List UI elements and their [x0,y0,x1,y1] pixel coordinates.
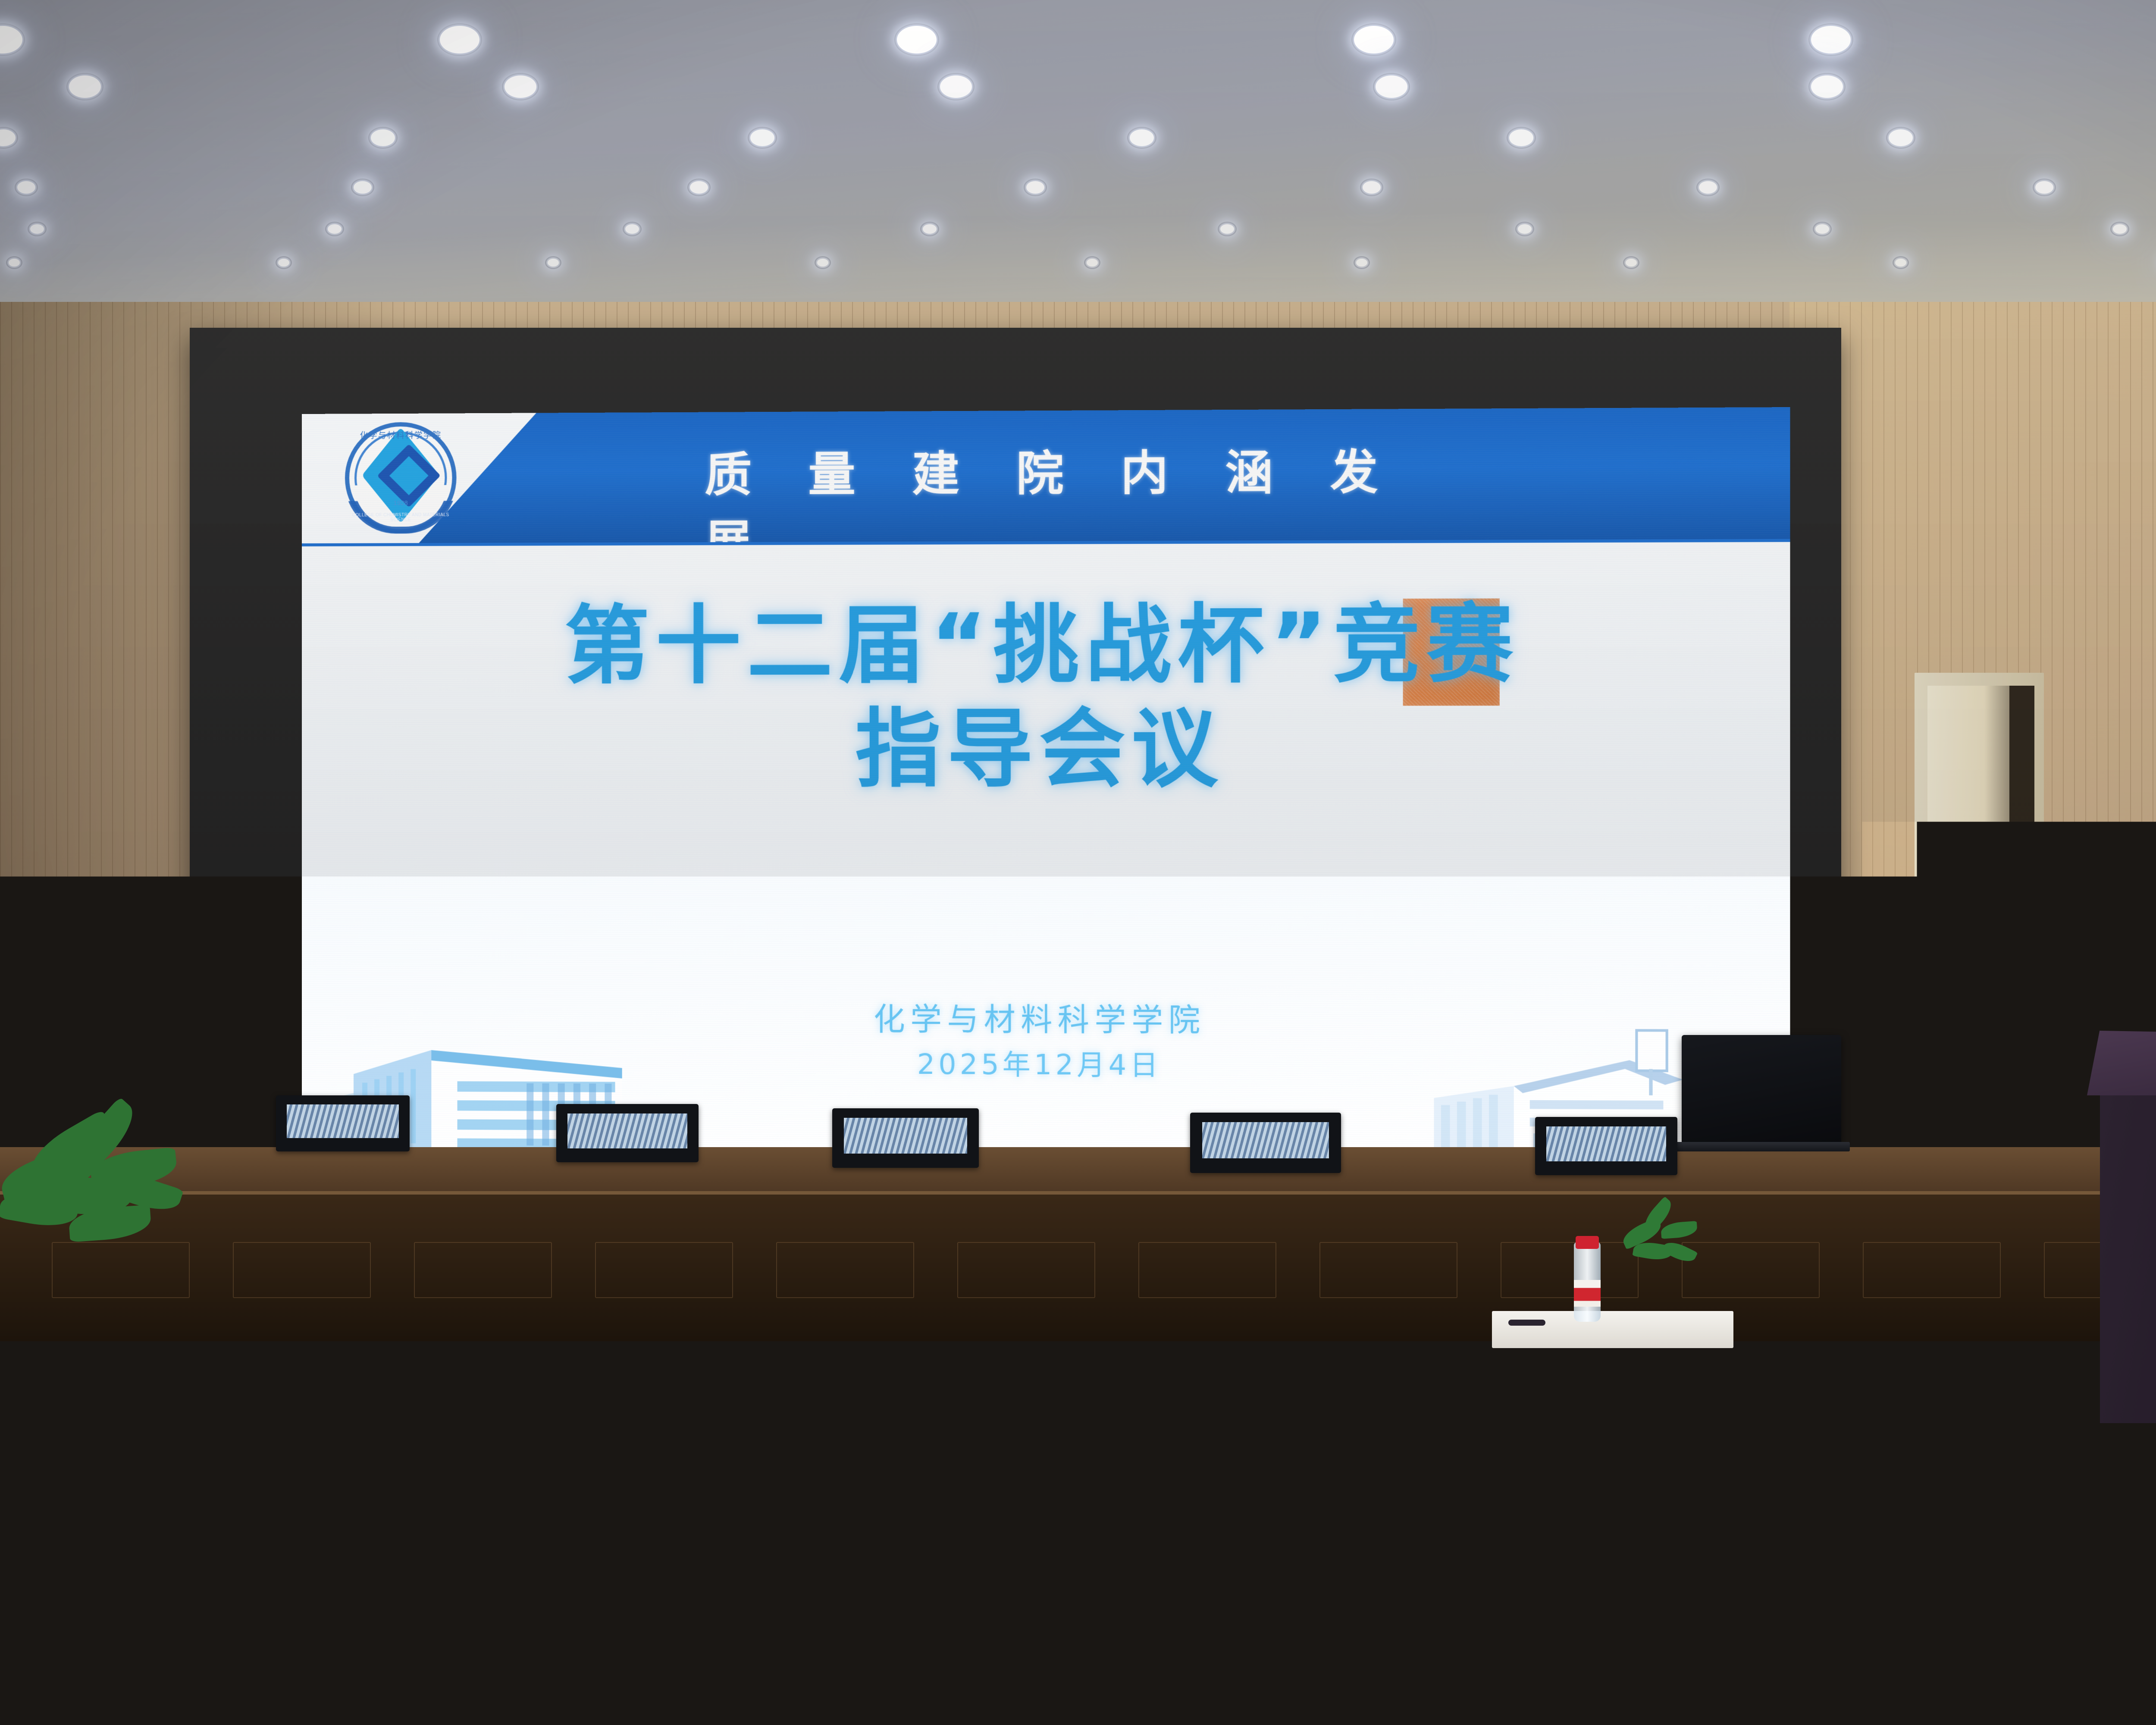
ceiling-downlight [1811,26,1851,53]
auditorium-seat[interactable] [586,1591,914,1725]
ceiling-downlight [505,75,536,98]
ceiling-downlight [1889,129,1913,146]
ceiling-downlight [278,259,289,267]
ceiling-downlight [1087,259,1098,267]
ceiling-downlight [69,75,101,98]
ceiling-downlight [897,26,937,53]
stage-monitor-screen [844,1118,967,1154]
logo-chinese-text: 化学与材料科学学院 [345,429,457,441]
ceiling-downlight [1130,129,1154,146]
ceiling-downlight [1895,259,1906,267]
stage-monitor[interactable] [556,1104,699,1162]
slide-title: 第十二届“挑战杯”竞赛 指导会议 [302,592,1790,802]
slide-title-line2: 指导会议 [302,696,1790,802]
ceiling-downlight [817,259,828,267]
audience-seating [0,1156,2156,1725]
slide-header-band: 化学与材料科学学院 1928 COLLEGE OF CHEMISTRY AND … [302,407,1790,543]
ceiling-downlight [750,129,774,146]
ceiling-downlight [940,75,972,98]
slide-slogan: 质 量 建 院 内 涵 发 展 [705,434,1451,543]
logo-english-text: COLLEGE OF CHEMISTRY AND MATERIALS SCIEN… [345,513,457,523]
auditorium-seat[interactable] [1302,1591,1630,1725]
ceiling-downlight [1356,259,1367,267]
stage-monitor-screen [287,1104,399,1138]
photo-scene: 化学与材料科学学院 1928 COLLEGE OF CHEMISTRY AND … [0,0,2156,1725]
logo-year: 1928 [345,499,457,507]
door-gap [2009,686,2034,1182]
auditorium-seat[interactable] [1660,1591,1988,1725]
auditorium-seat[interactable] [2018,1591,2156,1725]
stage-monitor[interactable] [276,1095,410,1151]
ceiling-downlight [1354,26,1394,53]
auditorium-seat[interactable] [0,1591,198,1725]
stage-monitor-screen [567,1113,687,1148]
auditorium-seat[interactable] [944,1591,1272,1725]
ceiling-downlight [1509,129,1533,146]
ceiling-downlight [371,129,395,146]
ceiling-downlight [1376,75,1407,98]
ceiling-downlight [440,26,479,53]
laptop-screen[interactable] [1682,1035,1841,1143]
auditorium-seat[interactable] [229,1591,556,1725]
slide-title-line1: 第十二届“挑战杯”竞赛 [564,594,1520,695]
ceiling-downlight [9,259,20,267]
projected-slide: 化学与材料科学学院 1928 COLLEGE OF CHEMISTRY AND … [302,407,1790,1163]
ceiling-downlight [1626,259,1637,267]
stage-monitor-screen [1202,1122,1329,1158]
laptop-base[interactable] [1673,1142,1850,1151]
college-logo: 化学与材料科学学院 1928 COLLEGE OF CHEMISTRY AND … [345,422,457,533]
ceiling-downlight [548,259,559,267]
ceiling-downlight [1811,75,1843,98]
